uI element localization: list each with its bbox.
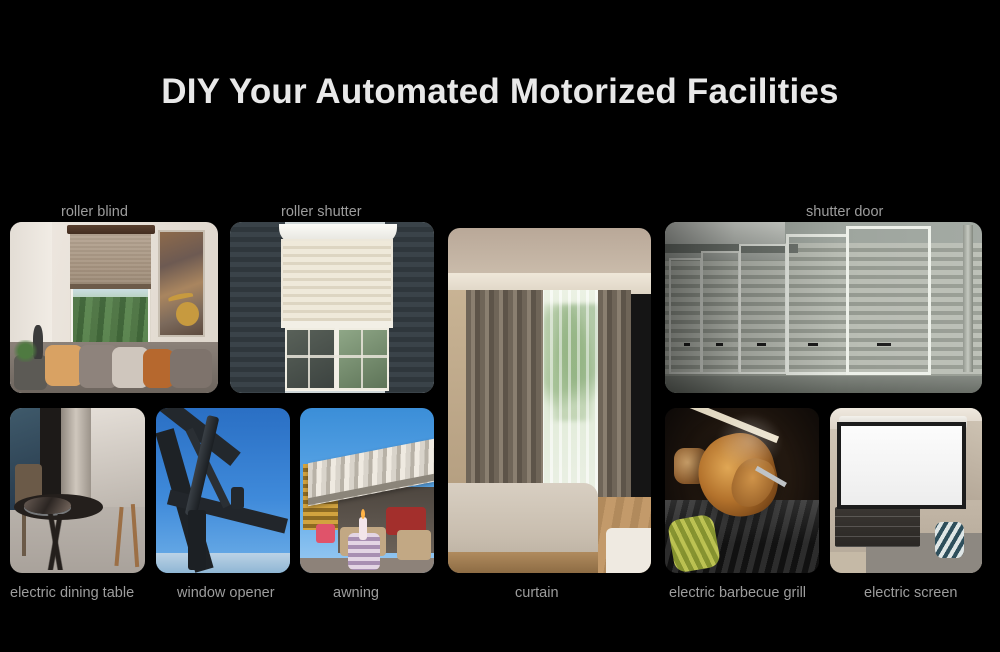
tile-shutter-door[interactable] xyxy=(665,222,982,393)
caption-shutter-door: shutter door xyxy=(806,204,883,220)
caption-awning: awning xyxy=(333,585,379,601)
caption-electric-barbecue-grill: electric barbecue grill xyxy=(669,585,806,601)
caption-electric-screen: electric screen xyxy=(864,585,957,601)
caption-roller-shutter: roller shutter xyxy=(281,204,362,220)
electric-screen-image xyxy=(830,408,982,573)
shutter-door-image xyxy=(665,222,982,393)
roller-blind-image xyxy=(10,222,218,393)
awning-image xyxy=(300,408,434,573)
caption-curtain: curtain xyxy=(515,585,559,601)
electric-barbecue-grill-image xyxy=(665,408,819,573)
promo-banner: DIY Your Automated Motorized Facilities … xyxy=(0,0,1000,652)
window-opener-image xyxy=(156,408,290,573)
tile-electric-screen[interactable] xyxy=(830,408,982,573)
tile-curtain[interactable] xyxy=(448,228,651,573)
curtain-image xyxy=(448,228,651,573)
caption-window-opener: window opener xyxy=(177,585,275,601)
tile-awning[interactable] xyxy=(300,408,434,573)
page-title: DIY Your Automated Motorized Facilities xyxy=(0,72,1000,112)
tile-electric-barbecue-grill[interactable] xyxy=(665,408,819,573)
tile-electric-dining-table[interactable] xyxy=(10,408,145,573)
caption-electric-dining-table: electric dining table xyxy=(10,585,134,601)
tile-window-opener[interactable] xyxy=(156,408,290,573)
tile-roller-shutter[interactable] xyxy=(230,222,434,393)
roller-shutter-image xyxy=(230,222,434,393)
tile-roller-blind[interactable] xyxy=(10,222,218,393)
caption-roller-blind: roller blind xyxy=(61,204,128,220)
electric-dining-table-image xyxy=(10,408,145,573)
